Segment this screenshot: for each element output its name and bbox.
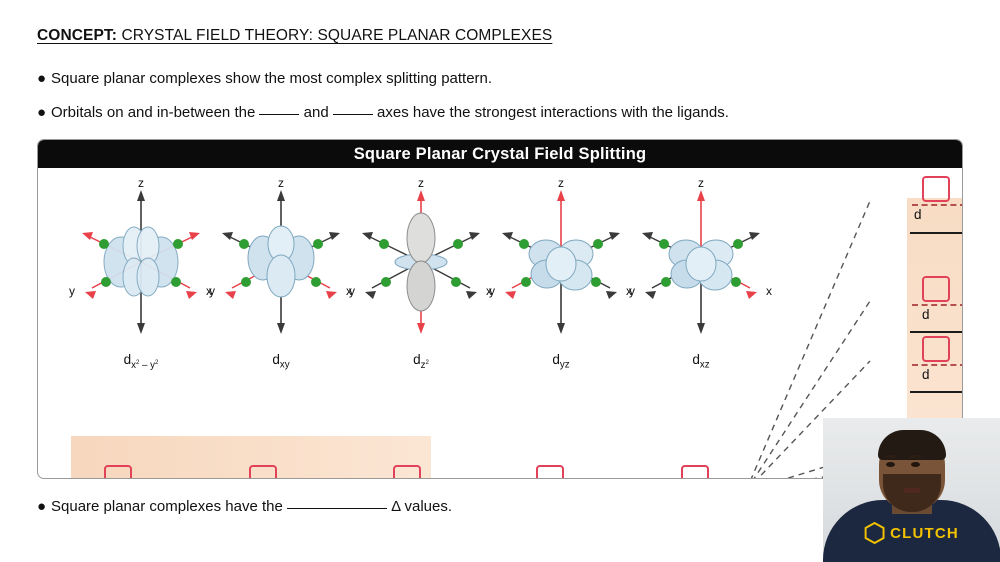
orbital-diagram-dx2y2: z x y xyxy=(66,176,216,371)
energy-box-dz2[interactable] xyxy=(393,465,421,479)
split-box-level-3[interactable] xyxy=(922,336,950,362)
bullet-dot-icon: ● xyxy=(37,498,51,515)
bullet-3-text-before: Square planar complexes have the xyxy=(51,498,287,515)
split-line-level-3 xyxy=(910,391,963,393)
orbital-label-dxy: dxy xyxy=(206,352,356,371)
webcam-mouth xyxy=(903,488,920,493)
split-d-label-2: d xyxy=(922,307,930,322)
orbital-svg-dxy: z x y xyxy=(206,176,356,351)
svg-text:z: z xyxy=(418,176,424,190)
orbital-label-base: d xyxy=(124,352,132,367)
split-dash-level-3 xyxy=(912,364,963,366)
hexagon-icon xyxy=(864,522,884,544)
panel-header: Square Planar Crystal Field Splitting xyxy=(38,140,962,168)
bullet-2-text-after: axes have the strongest interactions wit… xyxy=(373,104,729,121)
orbital-label-base: d xyxy=(552,352,560,367)
bullet-2-text-before: Orbitals on and in-between the xyxy=(51,104,259,121)
svg-text:y: y xyxy=(69,284,75,298)
bullet-2: ●Orbitals on and in-between the and axes… xyxy=(37,104,729,121)
panel-header-title: Square Planar Crystal Field Splitting xyxy=(354,145,647,164)
instructor-webcam: CLUTCH xyxy=(823,418,1000,562)
bullet-dot-icon: ● xyxy=(37,70,51,87)
orbital-label-base: d xyxy=(272,352,280,367)
orbital-diagram-dyz: z x y xyxy=(486,176,636,371)
orbital-label-dz2: dz2 xyxy=(346,352,496,371)
webcam-eyebrow-right xyxy=(909,455,922,458)
bullet-2-blank-1 xyxy=(259,114,299,115)
concept-title: CRYSTAL FIELD THEORY: SQUARE PLANAR COMP… xyxy=(117,27,552,44)
split-d-label-3: d xyxy=(922,367,930,382)
svg-text:z: z xyxy=(558,176,564,190)
bullet-3-text-after: Δ values. xyxy=(387,498,452,515)
svg-text:z: z xyxy=(138,176,144,190)
split-line-level-1 xyxy=(910,232,963,234)
energy-box-dyz[interactable] xyxy=(536,465,564,479)
split-dash-level-2 xyxy=(912,304,963,306)
webcam-eyebrow-left xyxy=(884,455,897,458)
orbital-diagram-dxz: z x y xyxy=(626,176,776,371)
bullet-2-text-mid: and xyxy=(299,104,332,121)
svg-text:x: x xyxy=(766,284,772,298)
orbital-label-base: d xyxy=(413,352,421,367)
orbital-label-dyz: dyz xyxy=(486,352,636,371)
orbital-label-dxz: dxz xyxy=(626,352,776,371)
bullet-1-text: Square planar complexes show the most co… xyxy=(51,70,492,87)
svg-text:y: y xyxy=(489,284,495,298)
clutch-logo: CLUTCH xyxy=(864,522,959,544)
orbital-svg-dxz: z x y xyxy=(626,176,776,351)
orbital-diagram-dxy: z x y xyxy=(206,176,356,371)
orbital-label-dx2y2: dx2 – y2 xyxy=(66,352,216,371)
svg-text:y: y xyxy=(209,284,215,298)
webcam-eye-right xyxy=(911,462,920,467)
orbital-label-sub: xy xyxy=(280,360,290,371)
svg-text:y: y xyxy=(349,284,355,298)
energy-box-dx2y2[interactable] xyxy=(104,465,132,479)
energy-box-dxy[interactable] xyxy=(249,465,277,479)
bullet-3-blank xyxy=(287,508,387,509)
clutch-logo-text: CLUTCH xyxy=(890,525,959,542)
orbital-label-suppost: 2 xyxy=(155,359,158,365)
orbital-svg-dz2: z x y xyxy=(346,176,496,351)
svg-text:y: y xyxy=(629,284,635,298)
split-box-level-1[interactable] xyxy=(922,176,950,202)
page-title: CONCEPT: CRYSTAL FIELD THEORY: SQUARE PL… xyxy=(37,27,552,45)
bullet-2-blank-2 xyxy=(333,114,373,115)
orbital-label-dash: – xyxy=(139,360,150,371)
orbital-svg-dx2y2: z x y xyxy=(66,176,216,351)
svg-text:z: z xyxy=(278,176,284,190)
svg-text:z: z xyxy=(698,176,704,190)
orbital-label-sup: 2 xyxy=(426,359,429,365)
bullet-3: ●Square planar complexes have the Δ valu… xyxy=(37,498,452,515)
orbital-label-base: d xyxy=(692,352,700,367)
orbital-label-sub: xz xyxy=(700,360,710,371)
split-dash-level-1 xyxy=(912,204,963,206)
bullet-dot-icon: ● xyxy=(37,104,51,121)
orbital-label-sub: yz xyxy=(560,360,570,371)
split-line-level-2 xyxy=(910,331,963,333)
orbital-svg-dyz: z x y xyxy=(486,176,636,351)
concept-label: CONCEPT: xyxy=(37,27,117,44)
webcam-eye-left xyxy=(886,462,895,467)
orbital-diagram-dz2: z x y xyxy=(346,176,496,371)
split-box-level-2[interactable] xyxy=(922,276,950,302)
split-d-label-1: d xyxy=(914,207,922,222)
energy-box-dxz[interactable] xyxy=(681,465,709,479)
bullet-1: ●Square planar complexes show the most c… xyxy=(37,70,492,87)
slide-page: CONCEPT: CRYSTAL FIELD THEORY: SQUARE PL… xyxy=(0,0,1000,562)
